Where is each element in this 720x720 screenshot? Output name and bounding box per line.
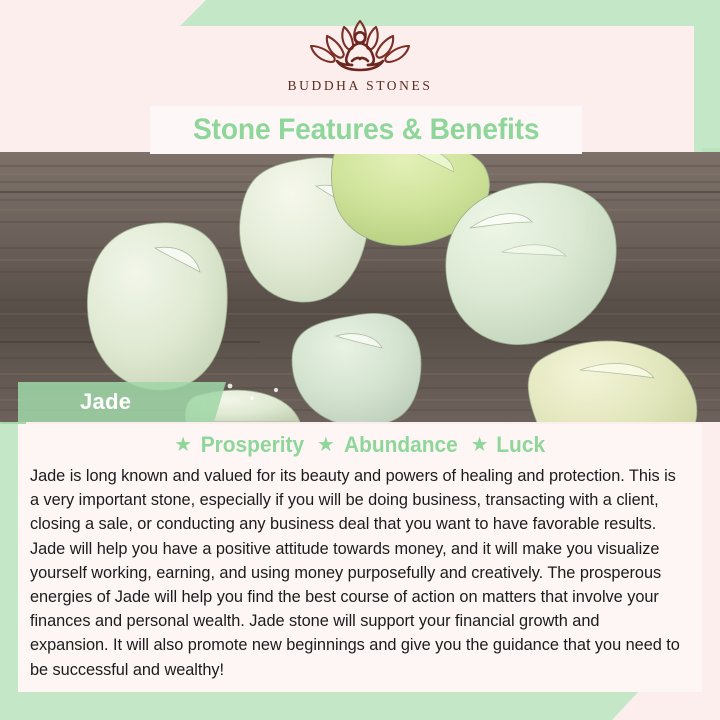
page-title: Stone Features & Benefits	[193, 113, 539, 147]
benefit-prosperity: ★ Prosperity	[174, 432, 307, 458]
benefit-label: Prosperity	[201, 432, 304, 458]
stone-name-badge: Jade	[18, 382, 226, 422]
benefit-label: Luck	[496, 432, 545, 458]
star-icon: ★	[471, 435, 489, 455]
star-icon: ★	[317, 435, 335, 455]
brand-header: BUDDHA STONES	[0, 0, 720, 106]
benefit-luck: ★ Luck	[471, 432, 546, 458]
jade-stones-illustration	[0, 152, 720, 422]
lotus-meditation-icon	[297, 13, 423, 75]
brand-name: BUDDHA STONES	[288, 78, 433, 94]
infographic-page: BUDDHA STONES Stone Features & Benefits	[0, 0, 720, 720]
stone-photo	[0, 152, 720, 422]
stone-name-label: Jade	[80, 389, 131, 415]
star-icon: ★	[174, 435, 192, 455]
title-banner: Stone Features & Benefits	[150, 106, 582, 154]
logo: BUDDHA STONES	[288, 13, 433, 94]
decor-band-bottom	[0, 690, 720, 720]
decor-band-left-text	[0, 424, 18, 692]
benefits-row: ★ Prosperity ★ Abundance ★ Luck	[28, 430, 692, 460]
benefit-abundance: ★ Abundance	[317, 432, 461, 458]
content-panel: ★ Prosperity ★ Abundance ★ Luck Jade is …	[18, 424, 702, 692]
benefit-label: Abundance	[344, 432, 458, 458]
stone-description: Jade is long known and valued for its be…	[28, 464, 682, 682]
